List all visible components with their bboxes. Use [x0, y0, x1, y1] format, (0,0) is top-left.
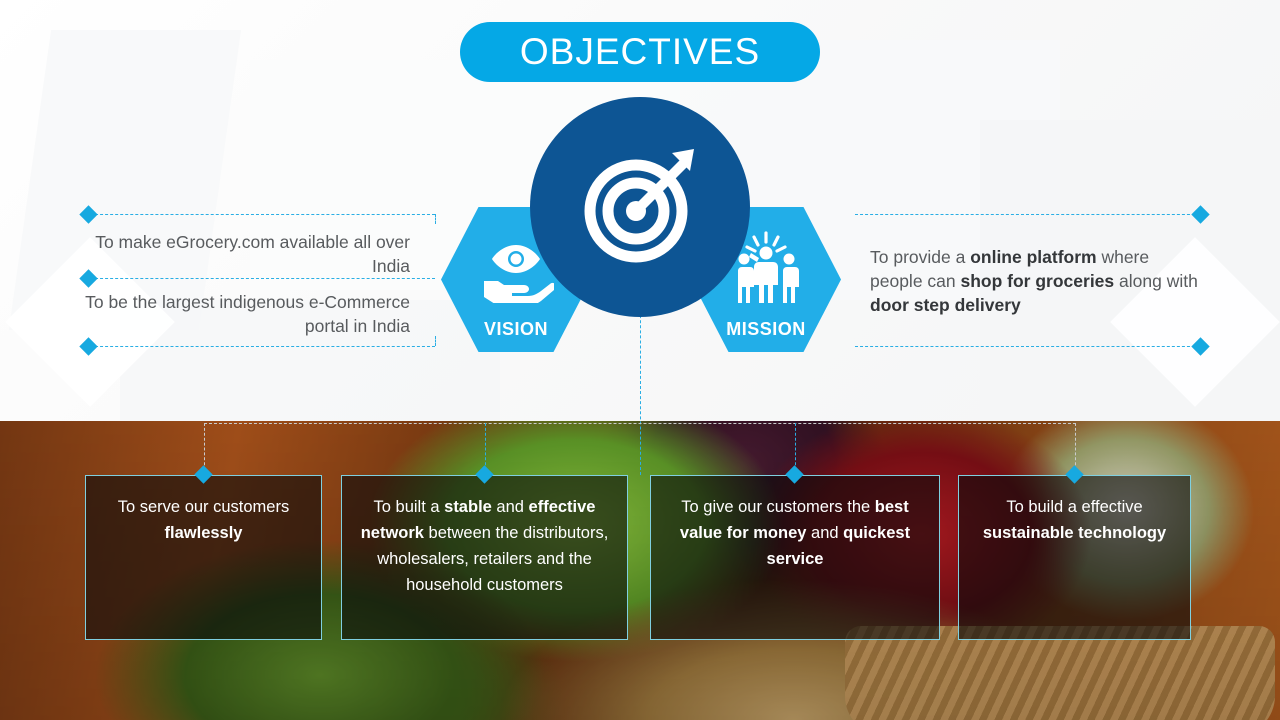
objective-box[interactable]: To give our customers the best value for…: [650, 475, 940, 640]
pillar-mission-label: MISSION: [726, 319, 806, 340]
connector-line: [90, 346, 435, 347]
mission-point-1-text: To provide a online platform where peopl…: [870, 247, 1198, 315]
objective-box[interactable]: To built a stable and effective network …: [341, 475, 628, 640]
vision-point-2: To be the largest indigenous e-Commerce …: [80, 290, 410, 338]
pillar-vision-label: VISION: [484, 319, 548, 340]
vision-point-2-text: To be the largest indigenous e-Commerce …: [85, 292, 410, 336]
connector-trunk: [640, 300, 641, 475]
objective-box-text: To build a effective sustainable technol…: [959, 476, 1190, 546]
objective-box[interactable]: To build a effective sustainable technol…: [958, 475, 1191, 640]
vision-point-1: To make eGrocery.com available all over …: [80, 230, 410, 278]
vision-point-1-text: To make eGrocery.com available all over …: [95, 232, 410, 276]
connector-line: [435, 336, 436, 346]
objective-box-text: To give our customers the best value for…: [651, 476, 939, 572]
connector-line: [90, 214, 435, 215]
connector-line: [855, 346, 1200, 347]
target-arrow-icon: [574, 139, 706, 276]
connector-distribution-rail: [204, 423, 1076, 424]
connector-line: [435, 214, 436, 224]
objectives-center-badge: [530, 97, 750, 317]
slide-canvas: OBJECTIVES VISION: [0, 0, 1280, 720]
objective-box-text: To serve our customers flawlessly: [86, 476, 321, 546]
connector-line: [90, 278, 435, 279]
objective-box-text: To built a stable and effective network …: [342, 476, 627, 598]
page-title-text: OBJECTIVES: [520, 31, 760, 73]
connector-line: [855, 214, 1200, 215]
objective-box[interactable]: To serve our customers flawlessly: [85, 475, 322, 640]
page-title: OBJECTIVES: [460, 22, 820, 82]
mission-point-1: To provide a online platform where peopl…: [870, 245, 1205, 317]
